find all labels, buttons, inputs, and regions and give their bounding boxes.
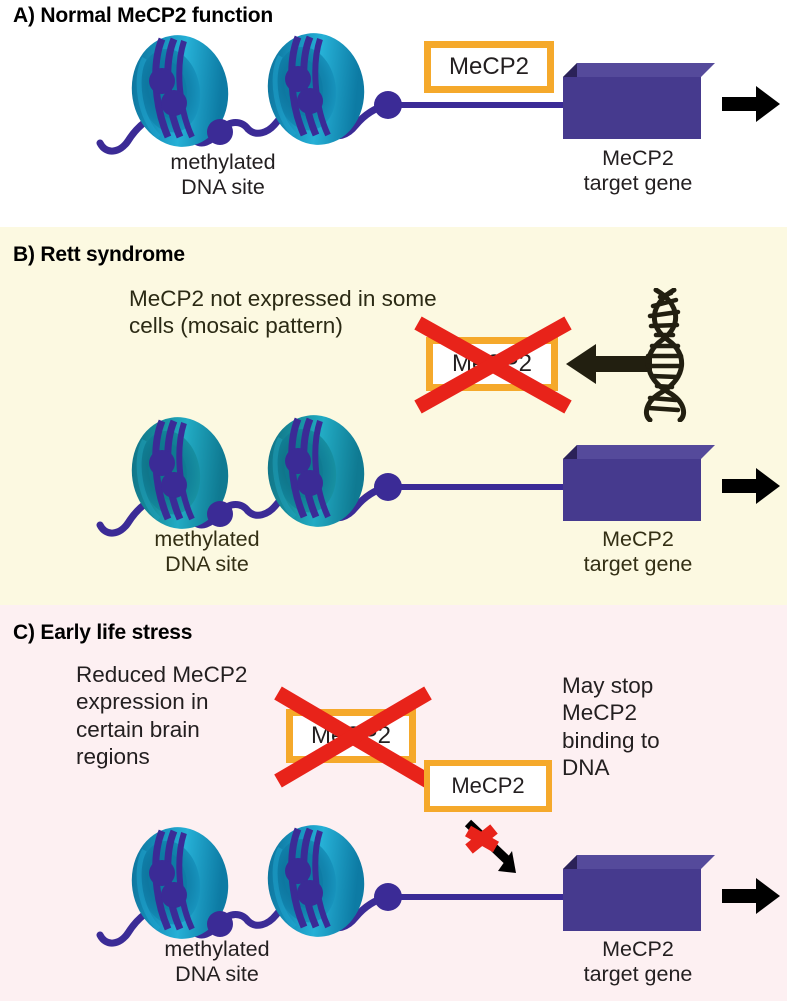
mecp2-label: MeCP2 — [449, 55, 529, 79]
methyl-dot-linker — [207, 119, 233, 145]
target-gene-cuboid-b — [563, 445, 715, 525]
methyl-dot — [161, 90, 187, 116]
transcription-arrow-a — [722, 86, 780, 122]
mecp2-box-c-crossed[interactable]: MeCP2 — [286, 709, 416, 763]
dna-helix-icon — [634, 288, 700, 422]
target-gene-caption-c: MeCP2 target gene — [543, 937, 733, 988]
promoter-linker-a — [382, 102, 580, 108]
target-gene-cuboid-a — [563, 63, 715, 143]
panel-a-title: A) Normal MeCP2 function — [13, 4, 273, 28]
panel-rett-syndrome: B) Rett syndrome MeCP2 not expressed in … — [0, 227, 787, 605]
target-gene-cuboid-c — [563, 855, 715, 935]
mecp2-label: MeCP2 — [311, 724, 391, 748]
mecp2-figure: A) Normal MeCP2 function — [0, 0, 787, 1001]
panel-b-title: B) Rett syndrome — [13, 243, 185, 267]
mecp2-box-c-active[interactable]: MeCP2 — [424, 760, 552, 812]
panel-b-note: MeCP2 not expressed in some cells (mosai… — [129, 285, 549, 340]
target-gene-caption-a: MeCP2 target gene — [543, 146, 733, 197]
methylated-dna-caption-b: methylated DNA site — [112, 527, 302, 578]
panel-normal-mecp2-function: A) Normal MeCP2 function — [0, 0, 787, 227]
promoter-linker-b — [382, 484, 580, 490]
panel-c-title: C) Early life stress — [13, 621, 192, 645]
panel-c-note-left: Reduced MeCP2 expression in certain brai… — [76, 661, 291, 771]
chromatin-assembly-a — [96, 33, 436, 168]
target-gene-caption-b: MeCP2 target gene — [543, 527, 733, 578]
mecp2-box-b[interactable]: MeCP2 — [426, 337, 558, 391]
promoter-linker-c — [382, 894, 580, 900]
methylated-dna-caption-c: methylated DNA site — [122, 937, 312, 988]
transcription-arrow-b — [722, 468, 780, 504]
mecp2-label: MeCP2 — [452, 352, 532, 376]
panel-c-note-right: May stop MeCP2 binding to DNA — [562, 672, 762, 782]
blocked-diagonal-arrow-icon — [458, 817, 530, 883]
mecp2-label: MeCP2 — [451, 775, 524, 797]
methyl-dot — [149, 68, 175, 94]
panel-early-life-stress: C) Early life stress Reduced MeCP2 expre… — [0, 605, 787, 1001]
methylated-dna-caption-a: methylated DNA site — [128, 150, 318, 201]
mecp2-box-a[interactable]: MeCP2 — [424, 41, 554, 93]
methyl-dot — [297, 88, 323, 114]
transcription-arrow-c — [722, 878, 780, 914]
methyl-dot — [285, 66, 311, 92]
small-red-x-icon — [468, 829, 496, 849]
